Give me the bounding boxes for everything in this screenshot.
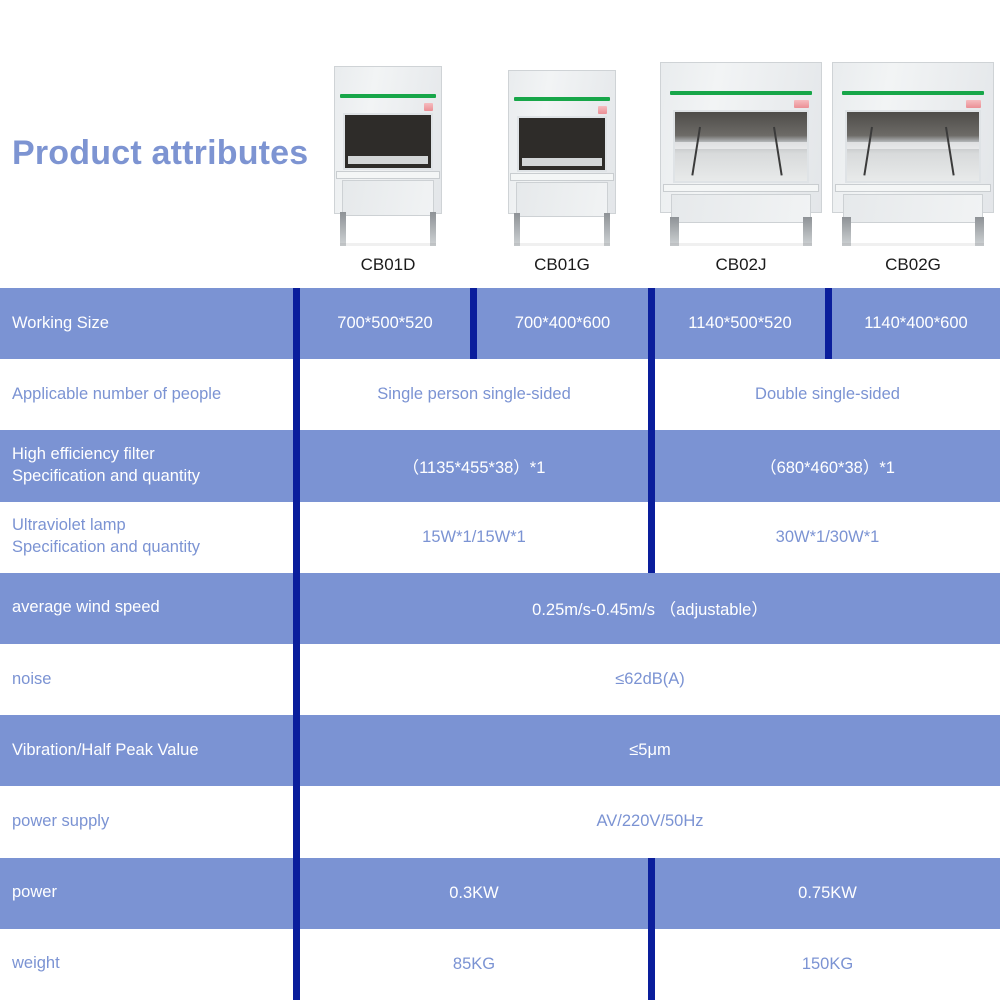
row-label: Vibration/Half Peak Value: [12, 715, 287, 786]
column-divider: [825, 288, 832, 359]
product-cb02j: CB02J: [660, 62, 822, 280]
table-cell: ≤5μm: [300, 715, 1000, 786]
table-row: noise≤62dB(A): [0, 644, 1000, 715]
column-divider: [648, 502, 655, 573]
row-label: average wind speed: [12, 573, 287, 644]
column-divider: [293, 430, 300, 501]
red-label-sticker: [794, 100, 809, 108]
product-cb01d: CB01D: [334, 66, 442, 280]
product-cb01g: CB01G: [508, 70, 616, 280]
table-cell: 0.25m/s-0.45m/s （adjustable）: [300, 573, 1000, 644]
table-cell: （1135*455*38）*1: [300, 430, 648, 501]
red-label-sticker: [966, 100, 981, 108]
clean-bench-illustration: [660, 62, 822, 246]
product-caption-cb01d: CB01D: [334, 255, 442, 275]
red-label-sticker: [424, 103, 434, 111]
column-divider: [293, 359, 300, 430]
work-chamber-window: [343, 113, 434, 171]
table-cell: 700*400*600: [477, 288, 648, 359]
green-stripe: [842, 91, 985, 95]
row-label: noise: [12, 644, 287, 715]
table-cell: 0.75KW: [655, 858, 1000, 929]
support-leg: [514, 213, 520, 246]
row-label: High efficiency filter Specification and…: [12, 430, 287, 501]
clean-bench-illustration: [508, 70, 616, 246]
green-stripe: [670, 91, 813, 95]
support-leg: [340, 212, 346, 246]
column-divider: [648, 929, 655, 1000]
product-caption-cb02g: CB02G: [832, 255, 994, 275]
support-leg: [670, 217, 679, 246]
column-divider: [293, 644, 300, 715]
support-leg: [975, 217, 984, 246]
column-divider: [293, 288, 300, 359]
specifications-table: Working Size700*500*520700*400*6001140*5…: [0, 288, 1000, 1000]
column-divider: [293, 929, 300, 1000]
table-cell: AV/220V/50Hz: [300, 786, 1000, 857]
work-chamber-window: [845, 110, 981, 184]
column-divider: [648, 288, 655, 359]
table-cell: 15W*1/15W*1: [300, 502, 648, 573]
column-divider: [293, 573, 300, 644]
support-leg: [803, 217, 812, 246]
column-divider: [648, 359, 655, 430]
work-surface: [663, 184, 819, 192]
row-label: power supply: [12, 786, 287, 857]
column-divider: [293, 715, 300, 786]
column-divider: [470, 288, 477, 359]
row-label: weight: [12, 929, 287, 1000]
header-section: Product attributes CB01DCB01GCB02JCB02G: [0, 0, 1000, 288]
table-cell: 30W*1/30W*1: [655, 502, 1000, 573]
table-cell: Single person single-sided: [300, 359, 648, 430]
table-row: High efficiency filter Specification and…: [0, 430, 1000, 501]
column-divider: [293, 502, 300, 573]
lower-panel: [342, 180, 435, 216]
support-leg: [430, 212, 436, 246]
table-row: power supplyAV/220V/50Hz: [0, 786, 1000, 857]
table-row: Working Size700*500*520700*400*6001140*5…: [0, 288, 1000, 359]
column-divider: [293, 786, 300, 857]
table-cell: （680*460*38）*1: [655, 430, 1000, 501]
row-label: Applicable number of people: [12, 359, 287, 430]
table-cell: 0.3KW: [300, 858, 648, 929]
work-surface: [835, 184, 991, 192]
table-cell: 700*500*520: [300, 288, 470, 359]
product-attributes-page: Product attributes CB01DCB01GCB02JCB02G …: [0, 0, 1000, 1000]
table-row: power0.3KW0.75KW: [0, 858, 1000, 929]
table-row: weight85KG150KG: [0, 929, 1000, 1000]
table-row: Applicable number of peopleSingle person…: [0, 359, 1000, 430]
table-cell: Double single-sided: [655, 359, 1000, 430]
red-label-sticker: [598, 106, 608, 114]
product-image-cb02j: [660, 62, 822, 246]
work-surface: [510, 173, 614, 181]
product-image-cb02g: [832, 62, 994, 246]
lower-panel: [516, 182, 609, 217]
green-stripe: [340, 94, 435, 98]
table-row: average wind speed0.25m/s-0.45m/s （adjus…: [0, 573, 1000, 644]
column-divider: [648, 858, 655, 929]
table-cell: 85KG: [300, 929, 648, 1000]
table-row: Ultraviolet lamp Specification and quant…: [0, 502, 1000, 573]
table-row: Vibration/Half Peak Value≤5μm: [0, 715, 1000, 786]
table-cell: 1140*400*600: [832, 288, 1000, 359]
clean-bench-illustration: [832, 62, 994, 246]
row-label: Ultraviolet lamp Specification and quant…: [12, 502, 287, 573]
product-cb02g: CB02G: [832, 62, 994, 280]
green-stripe: [514, 97, 609, 101]
row-label: power: [12, 858, 287, 929]
product-caption-cb02j: CB02J: [660, 255, 822, 275]
work-chamber-window: [517, 116, 608, 172]
row-label: Working Size: [12, 288, 287, 359]
product-image-cb01d: [334, 66, 442, 246]
table-cell: 1140*500*520: [655, 288, 825, 359]
work-chamber-window: [673, 110, 809, 184]
product-caption-cb01g: CB01G: [508, 255, 616, 275]
page-title: Product attributes: [12, 134, 308, 173]
support-leg: [842, 217, 851, 246]
clean-bench-illustration: [334, 66, 442, 246]
column-divider: [293, 858, 300, 929]
table-cell: ≤62dB(A): [300, 644, 1000, 715]
support-leg: [604, 213, 610, 246]
work-surface: [336, 171, 440, 179]
lower-panel: [671, 194, 810, 223]
column-divider: [648, 430, 655, 501]
lower-panel: [843, 194, 982, 223]
table-cell: 150KG: [655, 929, 1000, 1000]
product-image-cb01g: [508, 70, 616, 246]
